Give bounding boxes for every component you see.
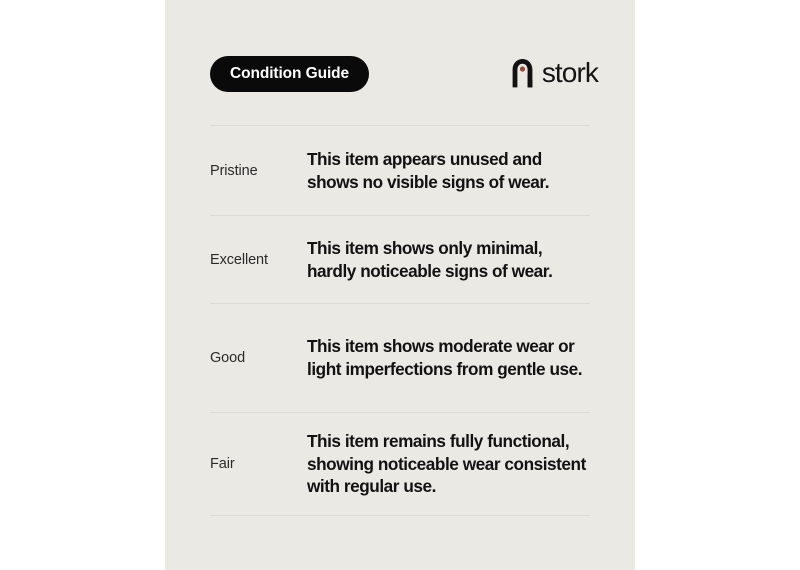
table-row: Excellent This item shows only minimal, … (210, 216, 590, 303)
condition-description: This item shows moderate wear or light i… (307, 331, 590, 385)
condition-description: This item remains fully functional, show… (307, 426, 590, 503)
condition-guide-badge: Condition Guide (210, 56, 369, 92)
condition-label: Pristine (210, 163, 307, 179)
condition-label: Good (210, 350, 307, 366)
condition-label: Fair (210, 456, 307, 472)
condition-guide-card: Condition Guide stork Pristine This item… (165, 0, 635, 570)
condition-guide-screen: Condition Guide stork Pristine This item… (0, 0, 800, 570)
card-header: Condition Guide stork (210, 56, 590, 92)
table-divider-bottom (210, 515, 590, 516)
brand-lockup: stork (510, 57, 598, 88)
condition-guide-badge-label: Condition Guide (230, 65, 349, 83)
brand-wordmark: stork (542, 59, 598, 87)
condition-description: This item shows only minimal, hardly not… (307, 233, 590, 287)
table-row: Pristine This item appears unused and sh… (210, 126, 590, 215)
condition-guide-table: Pristine This item appears unused and sh… (210, 125, 590, 516)
stork-arch-logo-icon (510, 57, 535, 88)
condition-description: This item appears unused and shows no vi… (307, 144, 590, 198)
table-row: Good This item shows moderate wear or li… (210, 304, 590, 412)
table-row: Fair This item remains fully functional,… (210, 413, 590, 515)
condition-label: Excellent (210, 252, 307, 268)
